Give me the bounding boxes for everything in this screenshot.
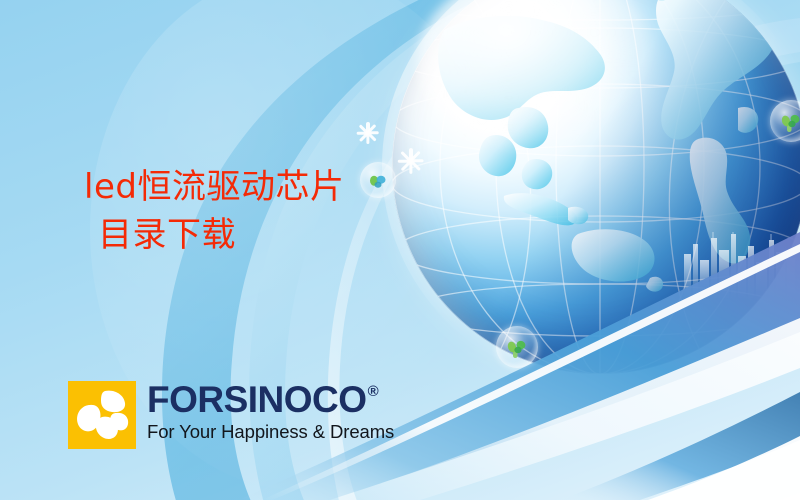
flower-petals-icon: [68, 381, 136, 449]
green-sprout-icon: [779, 110, 800, 134]
brand-text-block: FORSINOCO ® For Your Happiness & Dreams: [147, 381, 394, 441]
brand-name-row: FORSINOCO ®: [147, 382, 394, 418]
headline-line-2: 目录下载: [84, 211, 414, 259]
bubble-with-sprout: [496, 326, 538, 368]
registered-trademark-icon: ®: [368, 384, 379, 399]
four-petal-flower-mark: [68, 381, 136, 449]
green-sprout-icon: [505, 336, 529, 360]
brand-name: FORSINOCO: [147, 382, 367, 418]
white-flower-burst: [356, 121, 380, 145]
brand-logo: FORSINOCO ® For Your Happiness & Dreams: [68, 381, 394, 449]
brand-tagline: For Your Happiness & Dreams: [147, 422, 394, 441]
headline-block: led恒流驱动芯片 目录下载: [84, 163, 414, 260]
poster-canvas: led恒流驱动芯片 目录下载 FORSINOCO ®: [0, 0, 800, 500]
headline-line-1: led恒流驱动芯片: [84, 163, 414, 211]
